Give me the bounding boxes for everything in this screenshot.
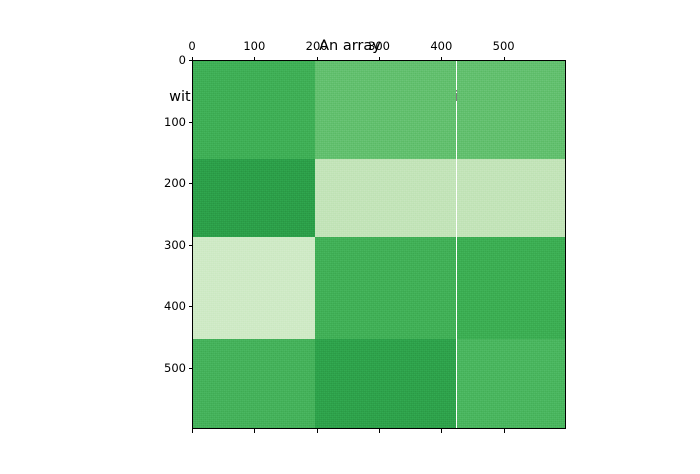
- x-tick-mark-bottom: [441, 429, 442, 433]
- heatmap-block: [193, 61, 315, 159]
- y-tick-label: 400: [146, 299, 186, 313]
- matplotlib-figure: An array with block checkerboard structu…: [0, 0, 700, 474]
- x-tick-mark-bottom: [504, 429, 505, 433]
- x-tick-label: 100: [231, 39, 277, 53]
- heatmap-image: [193, 61, 565, 428]
- heatmap-block: [457, 237, 566, 339]
- x-tick-mark: [192, 57, 193, 61]
- y-tick-mark: [189, 245, 193, 246]
- y-tick-mark: [189, 122, 193, 123]
- y-tick-label: 200: [146, 176, 186, 190]
- x-tick-mark: [504, 57, 505, 61]
- heatmap-block: [315, 159, 456, 237]
- y-tick-mark: [189, 368, 193, 369]
- x-tick-label: 300: [356, 39, 402, 53]
- heatmap-block: [457, 61, 566, 159]
- heatmap-block: [193, 339, 315, 428]
- heatmap-block: [193, 237, 315, 339]
- heatmap-block: [315, 237, 456, 339]
- heatmap-axes: [192, 60, 566, 429]
- x-tick-mark: [379, 57, 380, 61]
- x-tick-mark: [254, 57, 255, 61]
- x-tick-mark-bottom: [192, 429, 193, 433]
- y-tick-label: 300: [146, 238, 186, 252]
- heatmap-block: [193, 159, 315, 237]
- x-tick-label: 500: [481, 39, 527, 53]
- y-tick-label: 0: [146, 53, 186, 67]
- y-tick-mark: [189, 306, 193, 307]
- x-tick-label: 0: [169, 39, 215, 53]
- figure-title-line-1: An array: [0, 38, 700, 55]
- heatmap-block: [315, 339, 456, 428]
- heatmap-block: [457, 159, 566, 237]
- heatmap-block: [315, 61, 456, 159]
- y-tick-mark: [189, 60, 193, 61]
- y-tick-mark: [189, 183, 193, 184]
- x-tick-mark-bottom: [317, 429, 318, 433]
- x-tick-label: 200: [294, 39, 340, 53]
- x-tick-mark-bottom: [254, 429, 255, 433]
- y-tick-label: 500: [146, 361, 186, 375]
- x-tick-mark: [441, 57, 442, 61]
- heatmap-block: [457, 339, 566, 428]
- x-tick-mark-bottom: [379, 429, 380, 433]
- x-tick-label: 400: [418, 39, 464, 53]
- x-tick-mark: [317, 57, 318, 61]
- y-tick-label: 100: [146, 115, 186, 129]
